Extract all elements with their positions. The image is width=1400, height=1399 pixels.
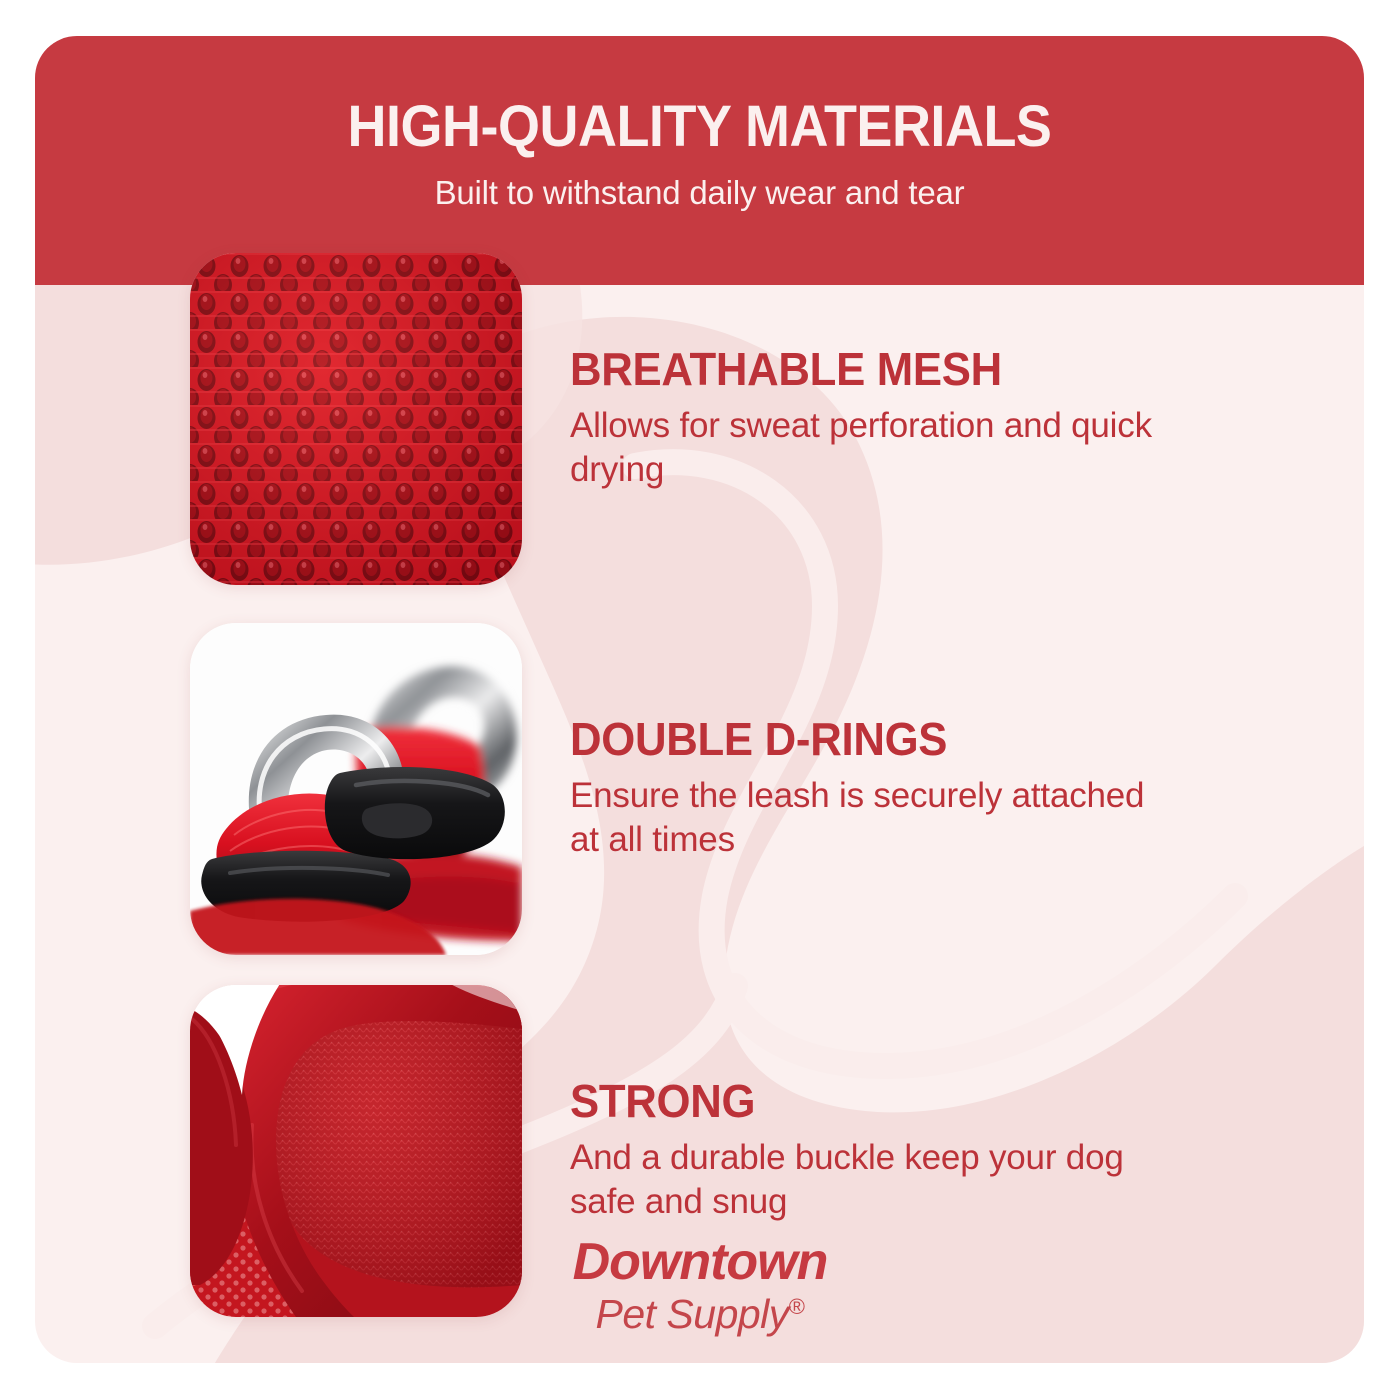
- feature-title: STRONG: [570, 1078, 1169, 1124]
- feature-description: Allows for sweat perforation and quick d…: [570, 404, 1170, 492]
- feature-item-double-d-rings: DOUBLE D-RINGS Ensure the leash is secur…: [190, 623, 1200, 955]
- page-subtitle: Built to withstand daily wear and tear: [435, 174, 965, 212]
- d-ring-buckle-icon: [190, 623, 522, 955]
- feature-text-strong: STRONG And a durable buckle keep your do…: [570, 1078, 1200, 1224]
- feature-image-double-d-rings: [190, 623, 522, 955]
- feature-text-breathable-mesh: BREATHABLE MESH Allows for sweat perfora…: [570, 346, 1200, 492]
- feature-title: BREATHABLE MESH: [570, 346, 1169, 392]
- page-title: HIGH-QUALITY MATERIALS: [348, 98, 1052, 156]
- feature-item-breathable-mesh: BREATHABLE MESH Allows for sweat perfora…: [190, 253, 1200, 585]
- harness-padded-edge-icon: [190, 985, 522, 1317]
- feature-image-strong: [190, 985, 522, 1317]
- feature-item-strong: STRONG And a durable buckle keep your do…: [190, 985, 1200, 1317]
- feature-title: DOUBLE D-RINGS: [570, 716, 1169, 762]
- feature-description: Ensure the leash is securely attached at…: [570, 774, 1170, 862]
- feature-text-double-d-rings: DOUBLE D-RINGS Ensure the leash is secur…: [570, 716, 1200, 862]
- feature-description: And a durable buckle keep your dog safe …: [570, 1136, 1170, 1224]
- feature-image-breathable-mesh: [190, 253, 522, 585]
- infographic-root: HIGH-QUALITY MATERIALS Built to withstan…: [0, 0, 1400, 1399]
- red-mesh-texture-icon: [190, 253, 522, 585]
- header-band: HIGH-QUALITY MATERIALS Built to withstan…: [35, 36, 1364, 285]
